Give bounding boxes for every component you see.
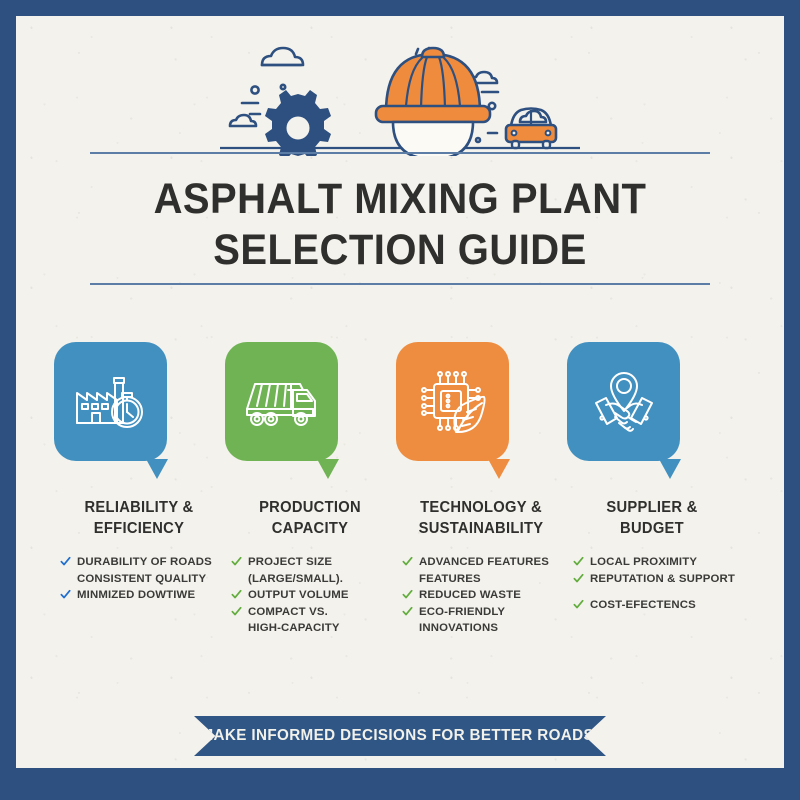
bullet-list: PROJECT SIZE(LARGE/SMALL).OUTPUT VOLUMEC… (225, 555, 395, 637)
bullet-label: MINMIZED DOWTIWE (77, 589, 195, 601)
category-card-production-capacity[interactable] (225, 342, 338, 461)
bullet-item: OUTPUT VOLUME (231, 588, 395, 604)
bullet-label: HIGH-CAPACITY (248, 622, 340, 634)
page-title: ASPHALT MIXING PLANT SELECTION GUIDE (43, 174, 757, 275)
title-line-1: ASPHALT MIXING PLANT (43, 174, 757, 225)
column-heading: SUPPLIER & BUDGET (571, 498, 733, 539)
card-tail (488, 459, 510, 479)
hard-hat-icon (376, 48, 490, 156)
bullet-label: CONSISTENT QUALITY (77, 573, 206, 585)
bullet-label: DURABILITY OF ROADS (77, 556, 212, 568)
check-icon (231, 606, 242, 617)
column-heading-line-2: CAPACITY (229, 519, 391, 540)
column-heading-line-2: EFFICIENCY (58, 519, 220, 540)
bullet-label: REPUTATION & SUPPORT (590, 573, 735, 585)
cloud-icon (262, 48, 303, 65)
gear-icon (265, 90, 331, 156)
bullet-item: REDUCED WASTE (402, 588, 566, 604)
column-heading-line-1: TECHNOLOGY & (400, 498, 562, 519)
bullet-label: INNOVATIONS (419, 622, 498, 634)
check-icon (231, 589, 242, 600)
ribbon-shape: MAKE INFORMED DECISIONS FOR BETTER ROADS… (194, 716, 606, 756)
column-reliability-efficiency: RELIABILITY & EFFICIENCY DURABILITY OF R… (54, 498, 224, 605)
bullet-label: COST-EFECTENCS (590, 599, 696, 611)
column-heading-line-2: SUSTAINABILITY (400, 519, 562, 540)
bullet-item: FEATURES (402, 572, 566, 588)
call-to-action-banner: MAKE INFORMED DECISIONS FOR BETTER ROADS… (16, 716, 784, 768)
column-heading-line-1: PRODUCTION (229, 498, 391, 519)
dump-truck-icon (243, 373, 321, 431)
divider-top (90, 152, 710, 154)
construction-hardhat-illustration (220, 30, 580, 156)
category-card-supplier-budget[interactable] (567, 342, 680, 461)
cpu-chip-leaf-icon (418, 368, 488, 436)
check-icon (60, 589, 71, 600)
bullet-item: COST-EFECTENCS (573, 598, 737, 614)
paper-panel: ASPHALT MIXING PLANT SELECTION GUIDE (16, 16, 784, 768)
column-supplier-budget: SUPPLIER & BUDGET LOCAL PROXIMITYREPUTAT… (567, 498, 737, 615)
check-icon (231, 556, 242, 567)
check-icon (573, 573, 584, 584)
card-tail (146, 459, 168, 479)
bullet-label: ADVANCED FEATURES (419, 556, 549, 568)
bullet-item: PROJECT SIZE (231, 555, 395, 571)
category-card-reliability-efficiency[interactable] (54, 342, 167, 461)
bullet-item: MINMIZED DOWTIWE (60, 588, 224, 604)
check-icon (402, 606, 413, 617)
title-line-2: SELECTION GUIDE (43, 225, 757, 276)
bullet-item: LOCAL PROXIMITY (573, 555, 737, 571)
bullet-item: ADVANCED FEATURES (402, 555, 566, 571)
check-icon (402, 556, 413, 567)
category-card-row (54, 342, 754, 492)
bullet-list: DURABILITY OF ROADSCONSISTENT QUALITYMIN… (54, 555, 224, 604)
bullet-item: ECO-FRIENDLY (402, 605, 566, 621)
check-icon (60, 556, 71, 567)
bullet-item: HIGH-CAPACITY (231, 621, 395, 637)
bullet-item: REPUTATION & SUPPORT (573, 572, 737, 588)
bullet-label: COMPACT VS. (248, 606, 328, 618)
column-heading-line-2: BUDGET (571, 519, 733, 540)
cloud-icon (520, 111, 546, 122)
bullet-item: COMPACT VS. (231, 605, 395, 621)
bullet-label: PROJECT SIZE (248, 556, 332, 568)
bullet-label: ECO-FRIENDLY (419, 606, 505, 618)
card-tail (317, 459, 339, 479)
bullet-item: (LARGE/SMALL). (231, 572, 395, 588)
category-card-technology-sustainability[interactable] (396, 342, 509, 461)
bullet-label: OUTPUT VOLUME (248, 589, 349, 601)
bullet-label: REDUCED WASTE (419, 589, 521, 601)
bullet-item: CONSISTENT QUALITY (60, 572, 224, 588)
infographic-poster: ASPHALT MIXING PLANT SELECTION GUIDE (0, 0, 800, 800)
bullet-item: INNOVATIONS (402, 621, 566, 637)
bullet-label: FEATURES (419, 573, 481, 585)
factory-stopwatch-icon (74, 371, 148, 433)
bullet-list: LOCAL PROXIMITYREPUTATION & SUPPORTCOST-… (567, 555, 737, 614)
bullet-label: LOCAL PROXIMITY (590, 556, 697, 568)
column-technology-sustainability: TECHNOLOGY & SUSTAINABILITY ADVANCED FEA… (396, 498, 566, 638)
bullet-list: ADVANCED FEATURESFEATURESREDUCED WASTEEC… (396, 555, 566, 637)
bullet-label: (LARGE/SMALL). (248, 573, 343, 585)
column-heading-line-1: RELIABILITY & (58, 498, 220, 519)
column-heading: PRODUCTION CAPACITY (229, 498, 391, 539)
check-icon (573, 556, 584, 567)
column-heading-line-1: SUPPLIER & (571, 498, 733, 519)
bullet-item: DURABILITY OF ROADS (60, 555, 224, 571)
column-heading: TECHNOLOGY & SUSTAINABILITY (400, 498, 562, 539)
car-icon (506, 109, 556, 149)
column-heading: RELIABILITY & EFFICIENCY (58, 498, 220, 539)
handshake-location-pin-icon (588, 369, 660, 435)
hero-illustration (16, 30, 784, 156)
column-production-capacity: PRODUCTION CAPACITY PROJECT SIZE(LARGE/S… (225, 498, 395, 638)
cloud-icon (230, 115, 256, 126)
ribbon-text: MAKE INFORMED DECISIONS FOR BETTER ROADS… (201, 727, 600, 745)
check-icon (573, 599, 584, 610)
bullet-spacer (573, 588, 737, 598)
divider-bottom (90, 283, 710, 285)
check-icon (402, 589, 413, 600)
card-tail (659, 459, 681, 479)
